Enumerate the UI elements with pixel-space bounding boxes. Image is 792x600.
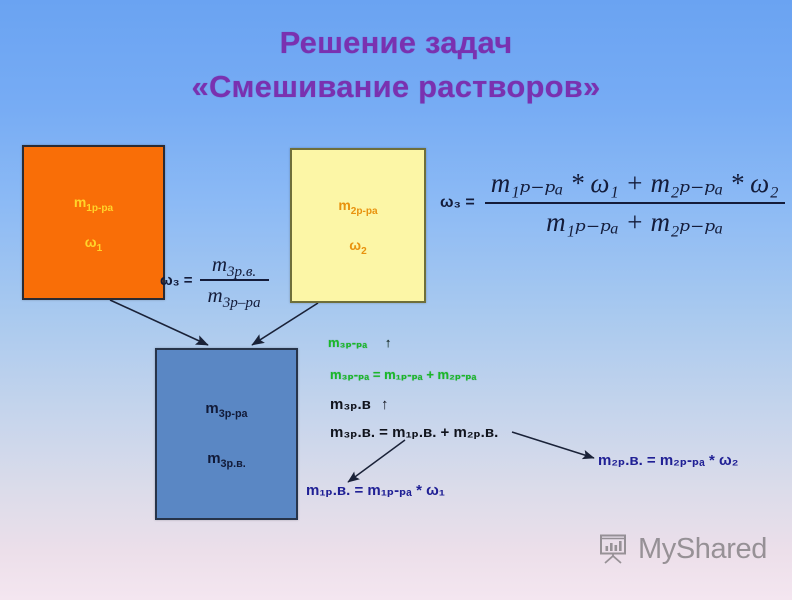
solution-2-box[interactable]: m2р-ра ω2: [290, 148, 426, 303]
arrow-m3pv-to-m1pv: [348, 440, 405, 482]
solution-1-mass-label: m1р-ра: [74, 195, 113, 210]
solution-3-mass-v-base: m: [207, 450, 220, 467]
omega3-small-denominator: m3р–ра: [200, 282, 269, 308]
solution-1-omega-label: ω1: [85, 235, 102, 250]
slide-canvas: Решение задач «Смешивание растворов» m1р…: [0, 0, 792, 600]
watermark-text: MyShared: [638, 533, 767, 566]
up-arrow-icon-mass-substance: ↑: [381, 396, 389, 413]
solution-3-mass-sub: 3р-ра: [219, 408, 248, 420]
omega3-small-fraction-bar: [200, 279, 269, 281]
solution-3-mass-base: m: [205, 400, 218, 417]
omega3-big-numerator: m₁ₚ₋ₚₐ * ω₁ + m₂ₚ₋ₚₐ * ω₂: [485, 166, 785, 201]
solution-3-mass-v-sub: 3р.в.: [221, 458, 246, 470]
solution-1-omega-base: ω: [85, 234, 97, 250]
solution-2-mass-label: m2р-ра: [338, 198, 377, 213]
solution-2-mass-sub: 2р-ра: [351, 206, 378, 217]
annotation-m3pv-equation: m₃ₚ.в. = m₁ₚ.в. + m₂ₚ.в.: [330, 424, 498, 441]
omega3-small-fraction: ω₃ = m3р.в. m3р–ра: [160, 252, 269, 308]
presentation-chart-icon: [596, 532, 630, 566]
solution-1-omega-sub: 1: [97, 242, 103, 253]
solution-1-mass-sub: 1р-ра: [86, 203, 113, 214]
title-line-1: Решение задач: [0, 22, 792, 64]
omega3-big-frac-body: m₁ₚ₋ₚₐ * ω₁ + m₂ₚ₋ₚₐ * ω₂ m₁ₚ₋ₚₐ + m₂ₚ₋ₚ…: [485, 166, 785, 240]
omega3-small-frac-body: m3р.в. m3р–ра: [200, 252, 269, 308]
annotation-m3pv-label-text: m₃ₚ.в: [330, 396, 371, 413]
arrow-m3pv-to-m2pv: [512, 432, 594, 458]
arrow-box2-to-box3: [252, 303, 318, 345]
solution-1-box[interactable]: m1р-ра ω1: [22, 145, 165, 300]
solution-2-mass-base: m: [338, 197, 350, 213]
omega3-small-numerator: m3р.в.: [204, 252, 264, 278]
myshared-watermark: MyShared: [596, 532, 767, 566]
up-arrow-icon-mass-solution: ↑: [385, 335, 392, 350]
solution-2-omega-label: ω2: [349, 238, 366, 253]
solution-3-mass-v-label: m3р.в.: [207, 451, 246, 468]
annotation-m3pp-label: m₃ₚ-ₚₐ ↑: [328, 336, 391, 351]
omega3-big-lead: ω₃ =: [440, 194, 475, 212]
omega3-small-den-sub: 3р–ра: [223, 295, 261, 311]
solution-3-box[interactable]: m3р-ра m3р.в.: [155, 348, 298, 520]
omega3-small-num-sub: 3р.в.: [227, 264, 256, 280]
annotation-m1pv-equation: m₁ₚ.в. = m₁ₚ-ₚₐ * ω₁: [306, 482, 445, 499]
omega3-small-lead: ω₃ =: [160, 272, 193, 289]
omega3-big-denominator: m₁ₚ₋ₚₐ + m₂ₚ₋ₚₐ: [540, 205, 729, 240]
annotation-m3pp-label-text: m₃ₚ-ₚₐ: [328, 335, 367, 350]
solution-3-mass-label: m3р-ра: [205, 401, 247, 418]
annotation-m3pp-equation: m₃ₚ-ₚₐ = m₁ₚ-ₚₐ + m₂ₚ-ₚₐ: [330, 368, 477, 383]
omega3-small-num-base: m: [212, 252, 227, 276]
omega3-big-formula: ω₃ = m₁ₚ₋ₚₐ * ω₁ + m₂ₚ₋ₚₐ * ω₂ m₁ₚ₋ₚₐ + …: [440, 166, 785, 240]
title-line-2: «Смешивание растворов»: [0, 66, 792, 108]
annotation-m2pv-equation: m₂ₚ.в. = m₂ₚ-ₚₐ * ω₂: [598, 452, 738, 469]
solution-2-omega-base: ω: [349, 237, 361, 253]
omega3-small-den-base: m: [208, 283, 223, 307]
solution-1-mass-base: m: [74, 194, 86, 210]
annotation-m3pv-label: m₃ₚ.в ↑: [330, 396, 389, 413]
page-title: Решение задач «Смешивание растворов»: [0, 22, 792, 108]
solution-2-omega-sub: 2: [361, 245, 367, 256]
omega3-big-fraction-bar: [485, 202, 785, 204]
